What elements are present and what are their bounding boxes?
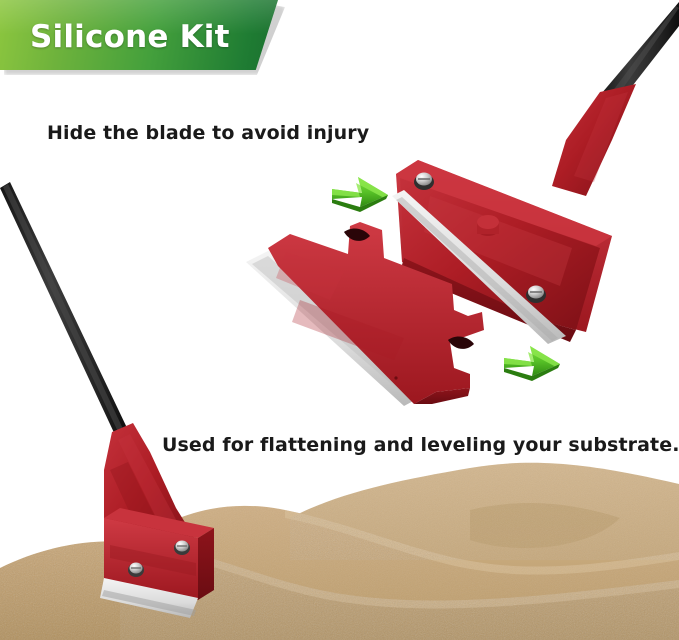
- page-title: Silicone Kit: [30, 14, 260, 60]
- arrow-icon: [332, 177, 388, 212]
- product-infographic: Hide the blade to avoid injury Used for …: [0, 0, 679, 640]
- long-handle-squeegee: [0, 182, 214, 618]
- caption-hide-blade: Hide the blade to avoid injury: [47, 122, 369, 144]
- banner: Silicone Kit: [0, 0, 285, 74]
- caption-flattening: Used for flattening and leveling your su…: [162, 434, 679, 456]
- tool-illustrations: [0, 0, 679, 640]
- boss-stud: [477, 215, 499, 236]
- arrow-icon: [504, 346, 560, 381]
